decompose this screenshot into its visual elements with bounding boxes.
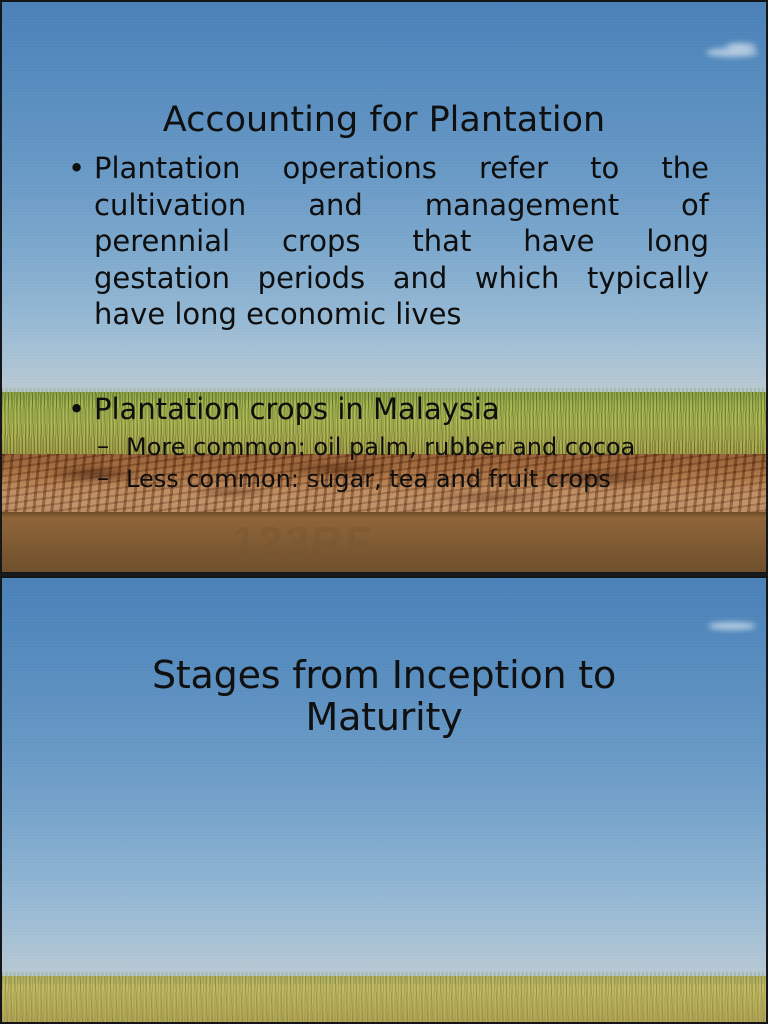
slide-1-title: Accounting for Plantation <box>2 101 766 140</box>
sub-bullet-item: – Less common: sugar, tea and fruit crop… <box>64 464 709 495</box>
slide-deck: 123RF Accounting for Plantation • Planta… <box>0 0 768 1024</box>
sub-bullet-item: – More common: oil palm, rubber and coco… <box>64 432 709 463</box>
slide-2-content: Stages from Inception to Maturity For a … <box>2 578 766 1022</box>
bullet-line: gestation periods and which typically <box>94 260 709 297</box>
bullet-marker-icon: • <box>68 150 85 187</box>
sub-bullet-text: Less common: sugar, tea and fruit crops <box>126 465 611 493</box>
slide-1[interactable]: 123RF Accounting for Plantation • Planta… <box>0 0 768 574</box>
slide-1-bullet-group-1: • Plantation operations refer to the cul… <box>64 150 709 337</box>
slide-2-title: Stages from Inception to Maturity <box>2 655 766 739</box>
slide-1-content: Accounting for Plantation • Plantation o… <box>2 2 766 572</box>
bullet-marker-icon: • <box>68 391 85 428</box>
slide-2-title-line: Maturity <box>2 697 766 739</box>
slide-1-bullet-group-2: • Plantation crops in Malaysia – More co… <box>64 391 709 495</box>
slide-2-title-line: Stages from Inception to <box>2 655 766 697</box>
dash-marker-icon: – <box>97 431 109 462</box>
bullet-line: perennial crops that have long <box>94 223 709 260</box>
bullet-line: cultivation and management of <box>94 187 709 224</box>
slide-2[interactable]: Stages from Inception to Maturity For a … <box>0 576 768 1024</box>
bullet-line: Plantation operations refer to the <box>94 150 709 187</box>
dash-marker-icon: – <box>97 463 109 494</box>
sub-bullet-text: More common: oil palm, rubber and cocoa <box>126 433 635 461</box>
bullet-text: Plantation crops in Malaysia <box>94 392 500 426</box>
bullet-line: have long economic lives <box>94 296 709 333</box>
bullet-item: • Plantation operations refer to the cul… <box>64 150 709 333</box>
bullet-item: • Plantation crops in Malaysia <box>64 391 709 428</box>
